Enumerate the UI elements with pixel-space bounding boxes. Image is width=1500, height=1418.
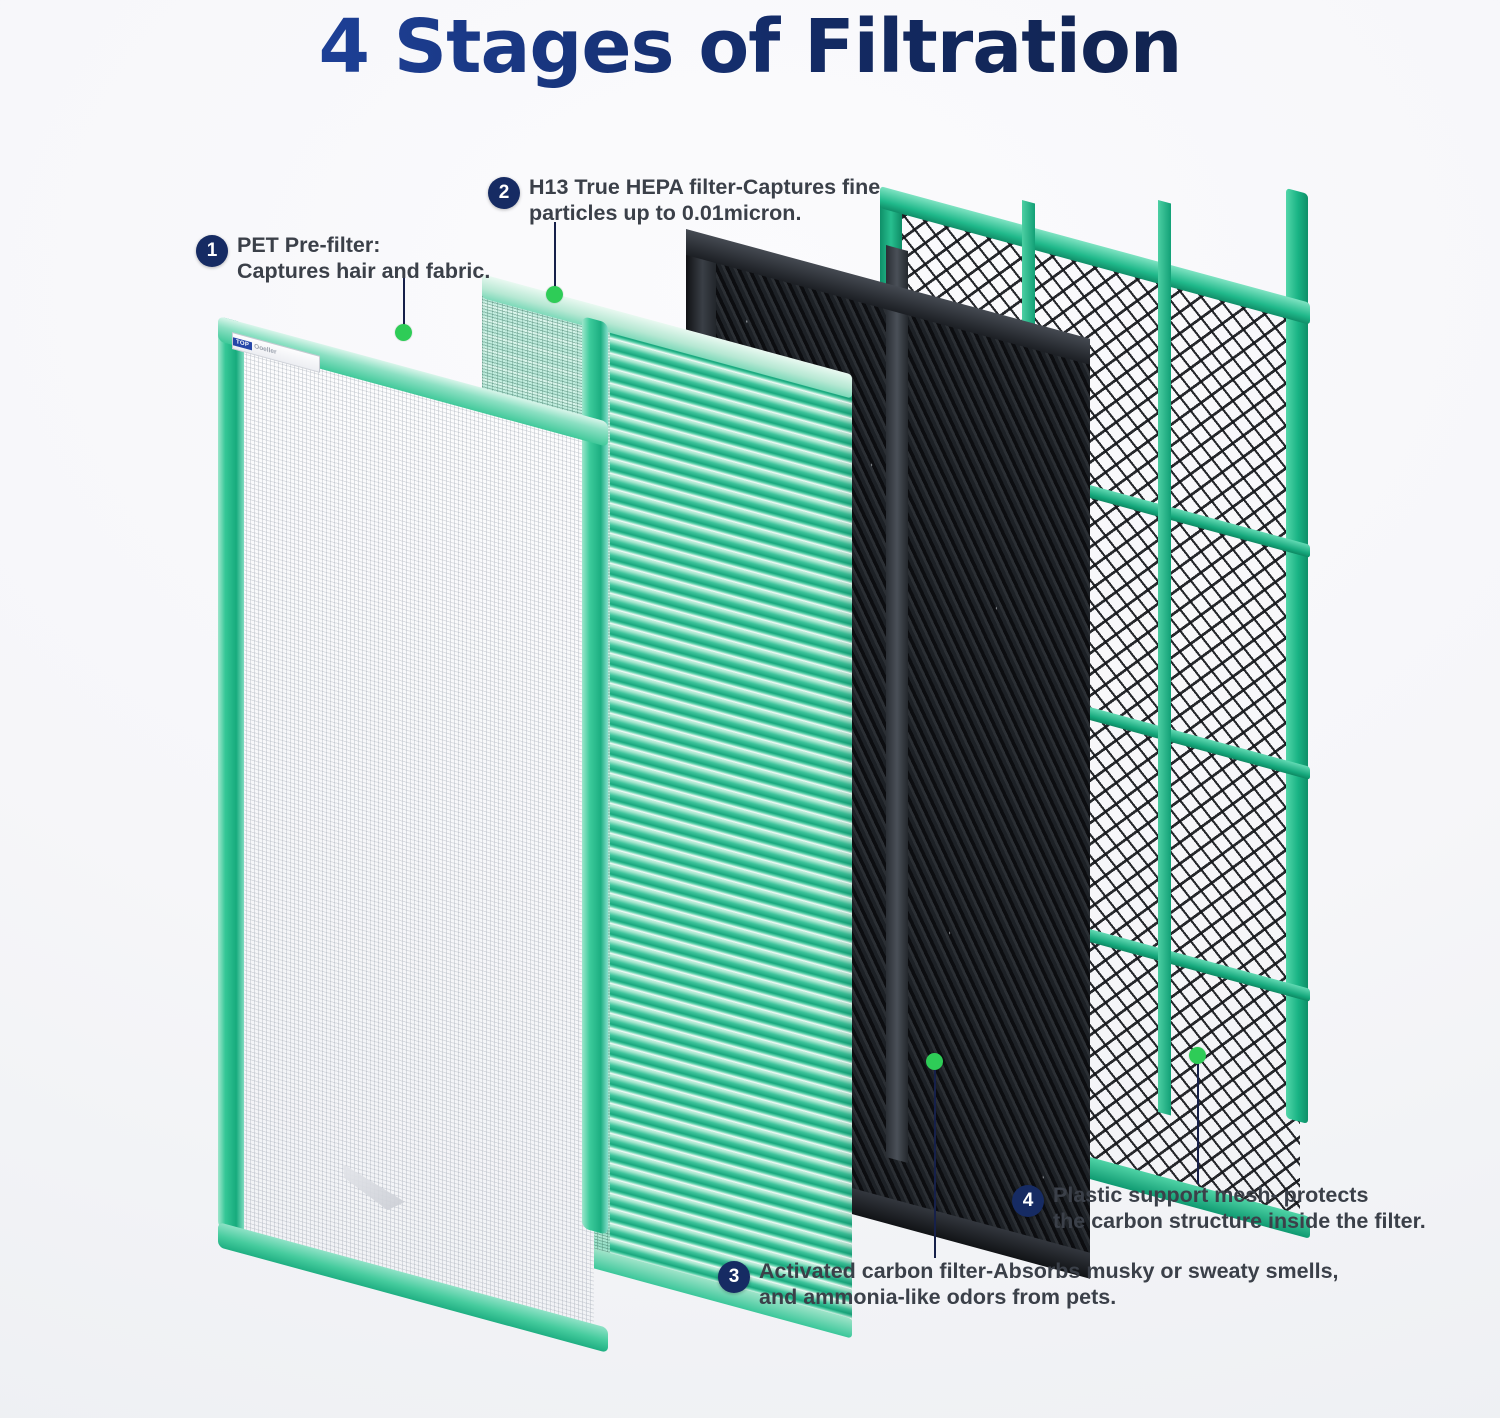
pet-pre-filter-layer: TOP Ooeller [218, 316, 608, 1266]
page-title: 4 Stages of Filtration [0, 4, 1500, 90]
leader-dot-4 [1189, 1047, 1206, 1064]
leader-line-4 [1197, 1056, 1199, 1184]
callout-badge-3: 3 [718, 1261, 750, 1293]
label-top-tag: TOP [233, 337, 252, 350]
mesh-post [1158, 200, 1171, 1116]
callout-2[interactable]: 2 H13 True HEPA filter-Captures fine par… [488, 174, 880, 226]
callout-4[interactable]: 4 Plastic support mesh- protects the car… [1012, 1182, 1426, 1234]
leader-dot-1 [395, 324, 412, 341]
pre-filter-frame-left [218, 316, 244, 1235]
leader-line-3 [934, 1062, 936, 1258]
leader-dot-3 [926, 1053, 943, 1070]
infographic-canvas: 4 Stages of Filtration [0, 0, 1500, 1418]
pre-filter-frame-right [582, 316, 608, 1235]
callout-text-2: H13 True HEPA filter-Captures fine parti… [529, 174, 880, 226]
leader-dot-2 [546, 286, 563, 303]
callout-3[interactable]: 3 Activated carbon filter-Absorbs musky … [718, 1258, 1339, 1310]
callout-1[interactable]: 1 PET Pre-filter: Captures hair and fabr… [196, 232, 490, 284]
callout-text-1: PET Pre-filter: Captures hair and fabric… [237, 232, 490, 284]
callout-badge-4: 4 [1012, 1185, 1044, 1217]
callout-badge-1: 1 [196, 235, 228, 267]
callout-badge-2: 2 [488, 177, 520, 209]
carbon-center-rib [886, 245, 908, 1163]
callout-text-3: Activated carbon filter-Absorbs musky or… [759, 1258, 1339, 1310]
pre-filter-mesh-pane [242, 340, 594, 1334]
label-brand-text: Ooeller [254, 343, 276, 356]
leader-line-2 [554, 222, 556, 294]
callout-text-4: Plastic support mesh- protects the carbo… [1053, 1182, 1426, 1234]
